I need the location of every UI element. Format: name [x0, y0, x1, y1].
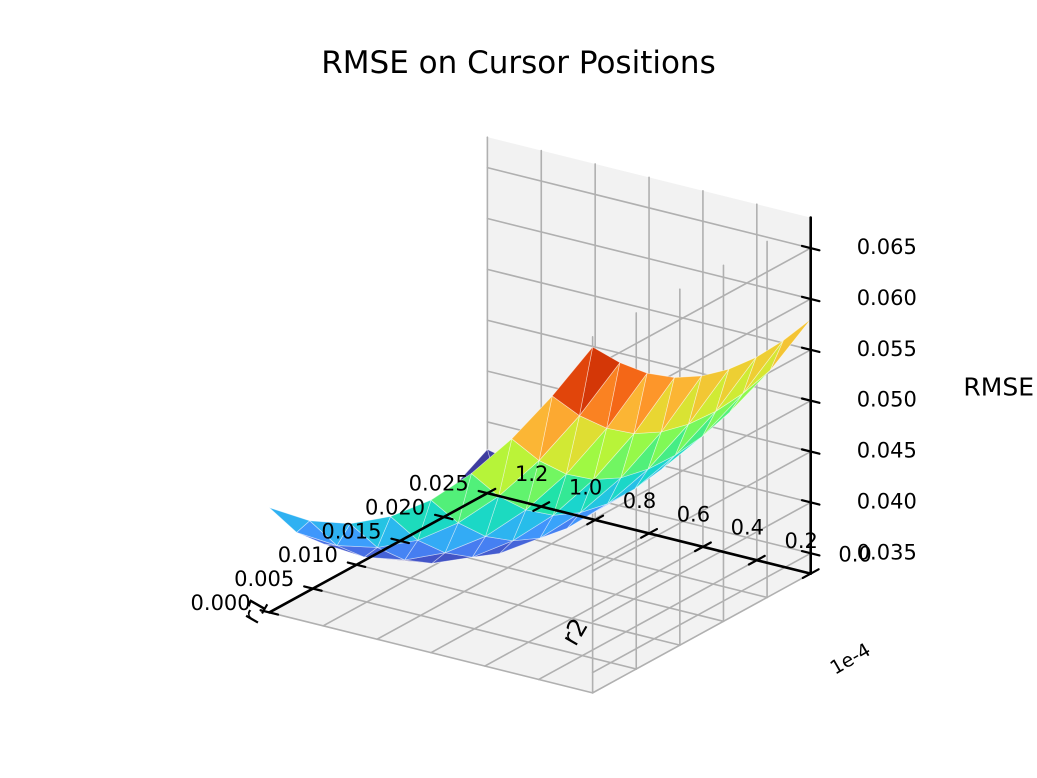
tick-label-rmse: 0.050 — [857, 388, 917, 412]
tick-label-r2: 0.6 — [677, 502, 710, 526]
tick-label-rmse: 0.065 — [857, 235, 917, 259]
tick-label-r2: 1.0 — [569, 476, 602, 500]
surface-plot-3d: 0.0000.0050.0100.0150.0200.0250.00.20.40… — [0, 0, 1037, 778]
tick-label-r2: 0.2 — [784, 529, 817, 553]
tick-label-r2: 0.8 — [623, 489, 656, 513]
tick-label-rmse: 0.060 — [857, 286, 917, 310]
tick-label-rmse: 0.035 — [857, 540, 917, 564]
axis-offset-r2: 1e-4 — [826, 639, 874, 679]
axis-label-rmse: RMSE — [963, 373, 1034, 402]
tick-label-r1: 0.020 — [365, 495, 425, 519]
figure-canvas: RMSE on Cursor Positions 0.0000.0050.010… — [0, 0, 1037, 778]
tick-label-rmse: 0.055 — [857, 337, 917, 361]
tick-label-r1: 0.025 — [409, 472, 469, 496]
tick-label-r2: 0.4 — [731, 516, 764, 540]
tick-label-r1: 0.010 — [278, 543, 338, 567]
tick-label-rmse: 0.040 — [857, 489, 917, 513]
tick-label-r1: 0.005 — [234, 567, 294, 591]
tick-label-r1: 0.015 — [321, 519, 381, 543]
tick-label-rmse: 0.045 — [857, 439, 917, 463]
tick-label-r2: 1.2 — [515, 462, 548, 486]
